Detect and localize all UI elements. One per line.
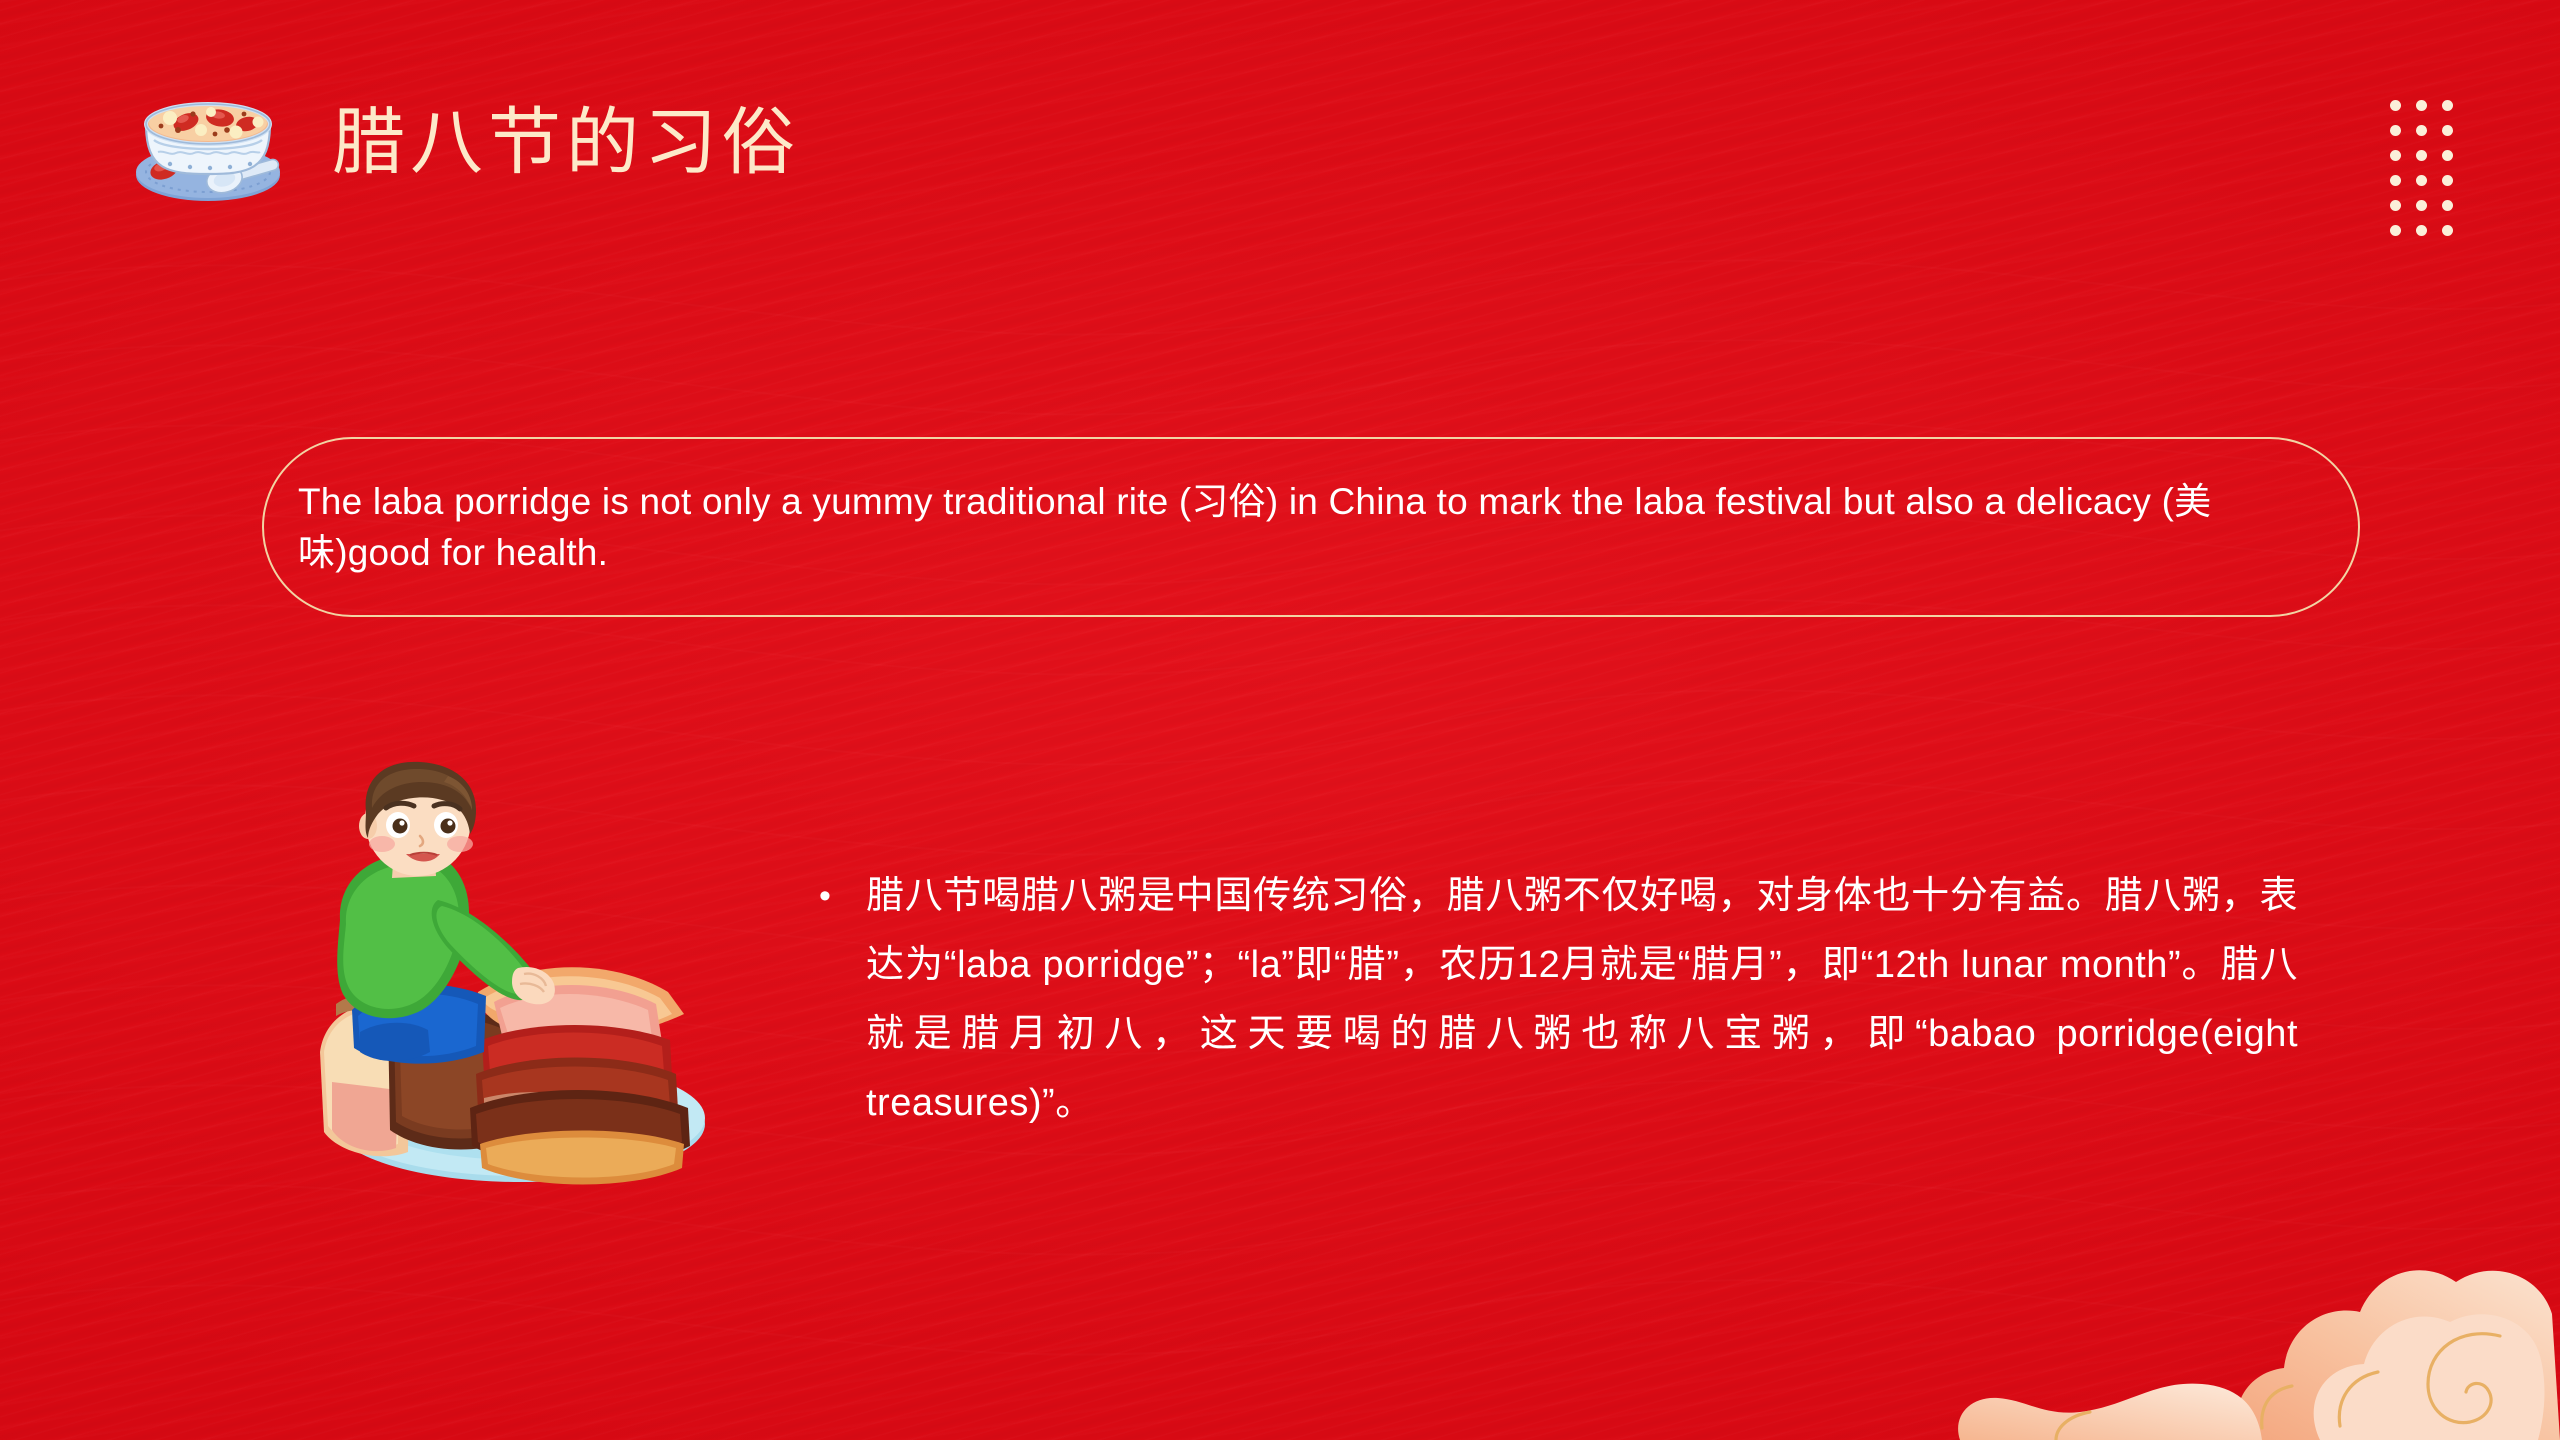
english-callout-text: The laba porridge is not only a yummy tr…	[298, 476, 2324, 578]
grid-dot	[2442, 125, 2453, 136]
background-texture	[0, 0, 2560, 1440]
grid-dot	[2442, 100, 2453, 111]
grid-dot	[2390, 225, 2401, 236]
grid-dot	[2442, 200, 2453, 211]
grid-dot	[2442, 225, 2453, 236]
bullet-marker: •	[818, 862, 832, 1138]
boy-on-stacked-meat-slices-illustration	[232, 752, 792, 1202]
grid-dot	[2442, 150, 2453, 161]
grid-dot	[2390, 100, 2401, 111]
dot-grid-decoration	[2390, 100, 2452, 235]
grid-dot	[2442, 175, 2453, 186]
grid-dot	[2416, 150, 2427, 161]
laba-porridge-bowl-icon	[108, 78, 308, 206]
grid-dot	[2416, 125, 2427, 136]
grid-dot	[2416, 100, 2427, 111]
slide-header: 腊八节的习俗	[108, 78, 800, 206]
page-title: 腊八节的习俗	[332, 106, 800, 179]
auspicious-cloud-decoration	[1940, 1140, 2560, 1440]
chinese-body-block: • 腊八节喝腊八粥是中国传统习俗，腊八粥不仅好喝，对身体也十分有益。腊八粥，表达…	[818, 862, 2298, 1138]
grid-dot	[2390, 150, 2401, 161]
grid-dot	[2416, 200, 2427, 211]
grid-dot	[2416, 225, 2427, 236]
english-callout-box: The laba porridge is not only a yummy tr…	[262, 437, 2360, 617]
grid-dot	[2390, 200, 2401, 211]
chinese-body-text: 腊八节喝腊八粥是中国传统习俗，腊八粥不仅好喝，对身体也十分有益。腊八粥，表达为“…	[866, 862, 2298, 1138]
grid-dot	[2390, 125, 2401, 136]
grid-dot	[2416, 175, 2427, 186]
grid-dot	[2390, 175, 2401, 186]
slide-canvas: 腊八节的习俗 The laba porridge is not only a y…	[0, 0, 2560, 1440]
